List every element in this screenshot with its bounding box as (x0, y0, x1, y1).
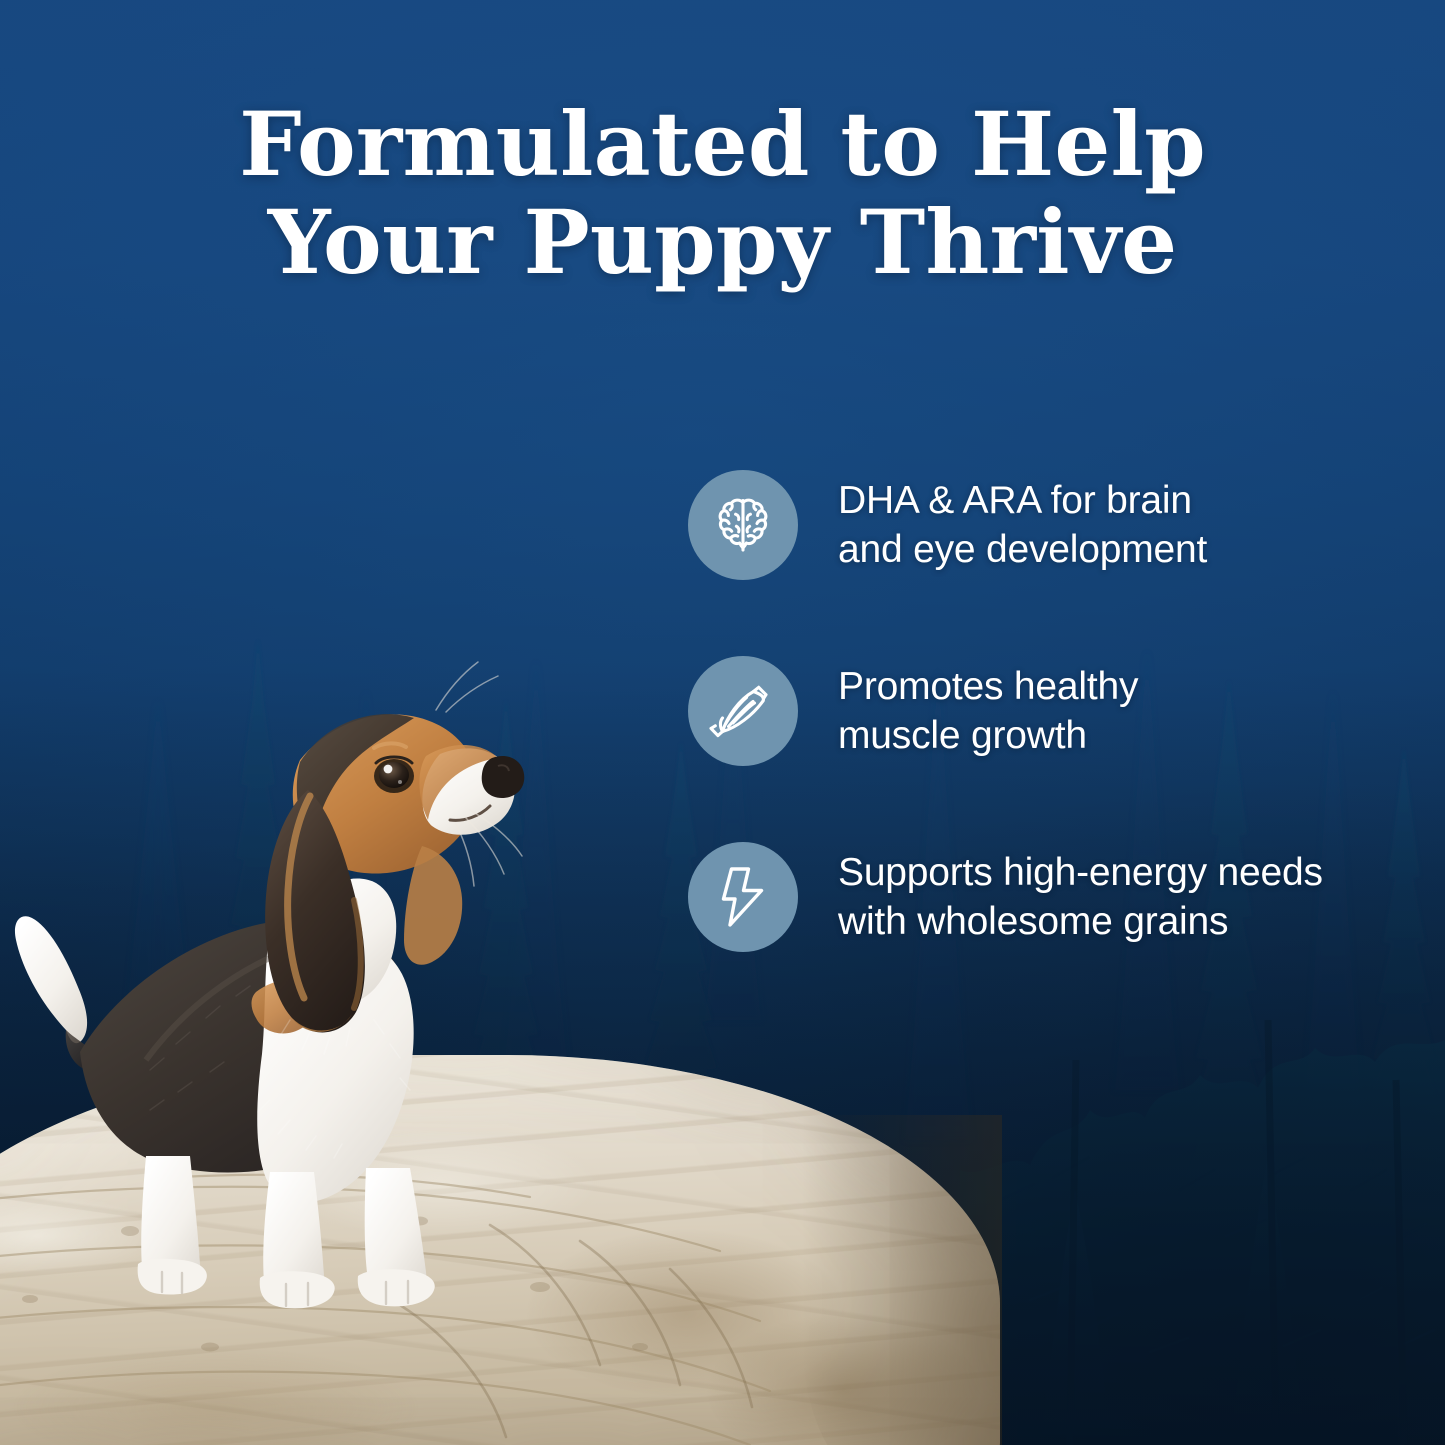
page-title: Formulated to Help Your Puppy Thrive (0, 96, 1445, 291)
dog-nose (482, 756, 525, 798)
feature-label-muscle: Promotes healthy muscle growth (838, 662, 1138, 760)
feature-item-muscle: Promotes healthy muscle growth (688, 656, 1388, 766)
feature-item-brain: DHA & ARA for brain and eye development (688, 470, 1388, 580)
feature-label-brain: DHA & ARA for brain and eye development (838, 476, 1207, 574)
dog-legs (138, 1156, 435, 1308)
feature-item-energy: Supports high-energy needs with wholesom… (688, 842, 1388, 952)
marketing-image-canvas: Formulated to Help Your Puppy Thrive (0, 0, 1445, 1445)
feature-label-energy: Supports high-energy needs with wholesom… (838, 848, 1323, 946)
lightning-bolt-icon (688, 842, 798, 952)
muscle-icon (688, 656, 798, 766)
brain-icon (688, 470, 798, 580)
feature-list: DHA & ARA for brain and eye development (688, 470, 1388, 952)
beagle-puppy (0, 600, 590, 1320)
